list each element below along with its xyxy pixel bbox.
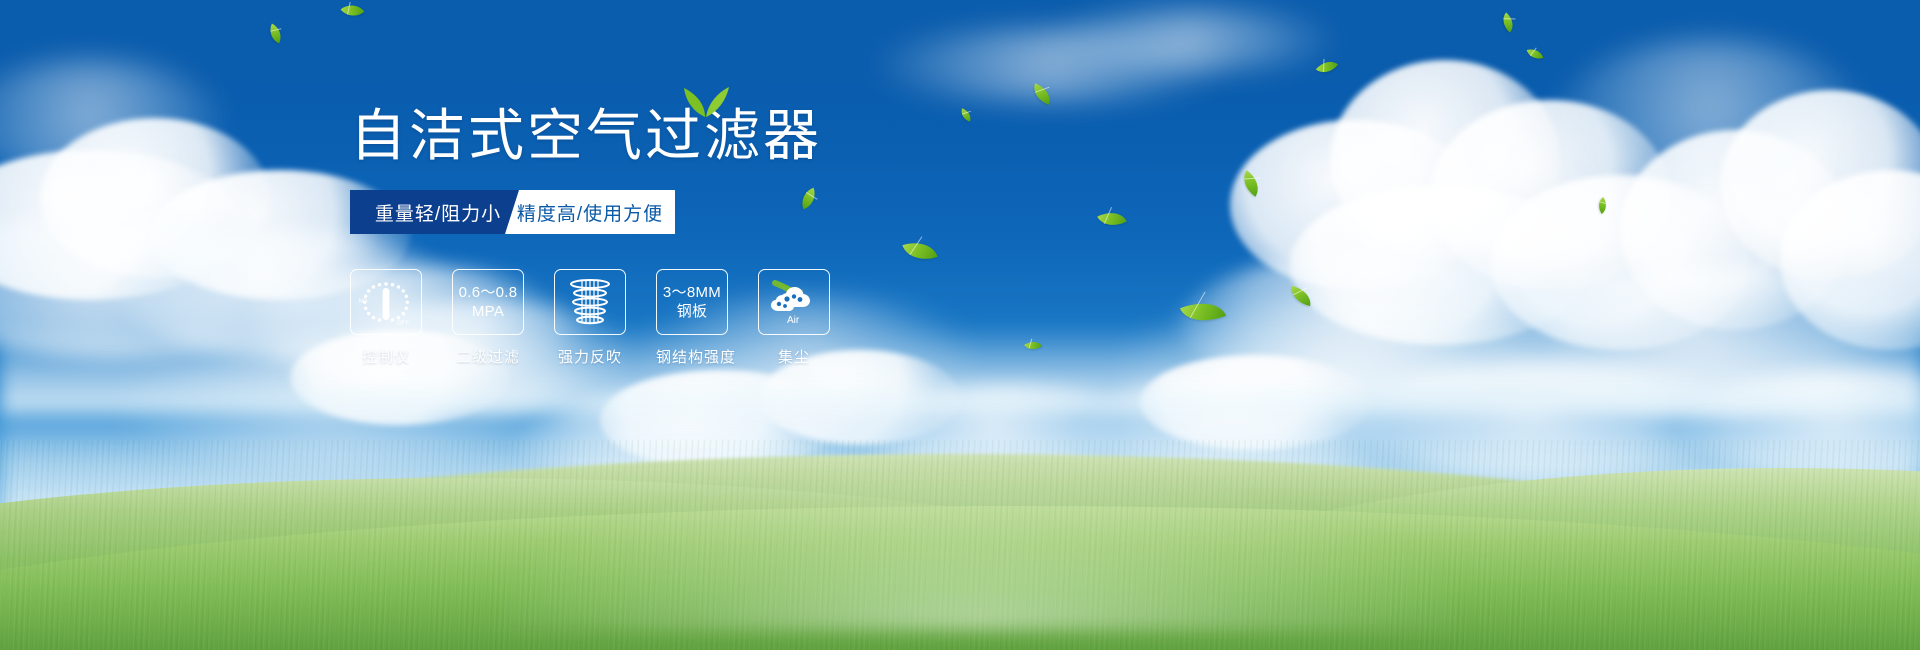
feature-icon-box: 3～8MM 钢板 [656, 269, 728, 335]
pressure-unit: MPA [472, 302, 504, 321]
feature-icon-box: Air [758, 269, 830, 335]
grass-field [0, 350, 1920, 650]
banner-root: 自洁式空气过滤器 重量轻/阻力小 精度高/使用方便 [0, 0, 1920, 650]
blowback-coil-icon [565, 276, 615, 328]
steel-plate-label: 钢板 [677, 302, 708, 321]
feature-item[interactable]: NO OFF 控制仪 [350, 269, 422, 367]
feature-icon-box [554, 269, 626, 335]
pressure-value: 0.6～0.8 [459, 283, 518, 302]
feature-icon-box: NO OFF [350, 269, 422, 335]
title-leaf-icon [680, 84, 730, 118]
feature-item[interactable]: 3～8MM 钢板 钢结构强度 [656, 269, 728, 367]
tab-precision-convenience[interactable]: 精度高/使用方便 [505, 190, 675, 234]
steel-thickness: 3～8MM [663, 283, 721, 302]
feature-icon-box: 0.6～0.8 MPA [452, 269, 524, 335]
feature-item[interactable]: Air 集尘 [758, 269, 830, 367]
feature-label: 集尘 [758, 346, 830, 367]
tab-weight-resistance[interactable]: 重量轻/阻力小 [350, 190, 526, 234]
tab-label: 精度高/使用方便 [517, 199, 663, 226]
dial-off-label: OFF [397, 321, 409, 327]
feature-label: 钢结构强度 [656, 346, 728, 367]
feature-label: 二级过滤 [452, 346, 524, 367]
control-dial-icon: NO OFF [357, 276, 415, 328]
feature-label: 强力反吹 [554, 346, 626, 367]
banner-content: 自洁式空气过滤器 重量轻/阻力小 精度高/使用方便 [350, 100, 990, 367]
feature-item[interactable]: 强力反吹 [554, 269, 626, 367]
air-cloud-icon: Air [765, 277, 823, 327]
feature-label: 控制仪 [350, 346, 422, 367]
title-row: 自洁式空气过滤器 [350, 100, 990, 172]
feature-list: NO OFF 控制仪 0.6～0.8 MPA 二级过滤 [350, 269, 990, 367]
page-title: 自洁式空气过滤器 [350, 100, 990, 172]
feature-item[interactable]: 0.6～0.8 MPA 二级过滤 [452, 269, 524, 367]
tab-label: 重量轻/阻力小 [375, 199, 501, 226]
air-label: Air [787, 315, 800, 326]
subtitle-tabs: 重量轻/阻力小 精度高/使用方便 [350, 190, 672, 234]
dial-on-label: NO [359, 299, 368, 305]
